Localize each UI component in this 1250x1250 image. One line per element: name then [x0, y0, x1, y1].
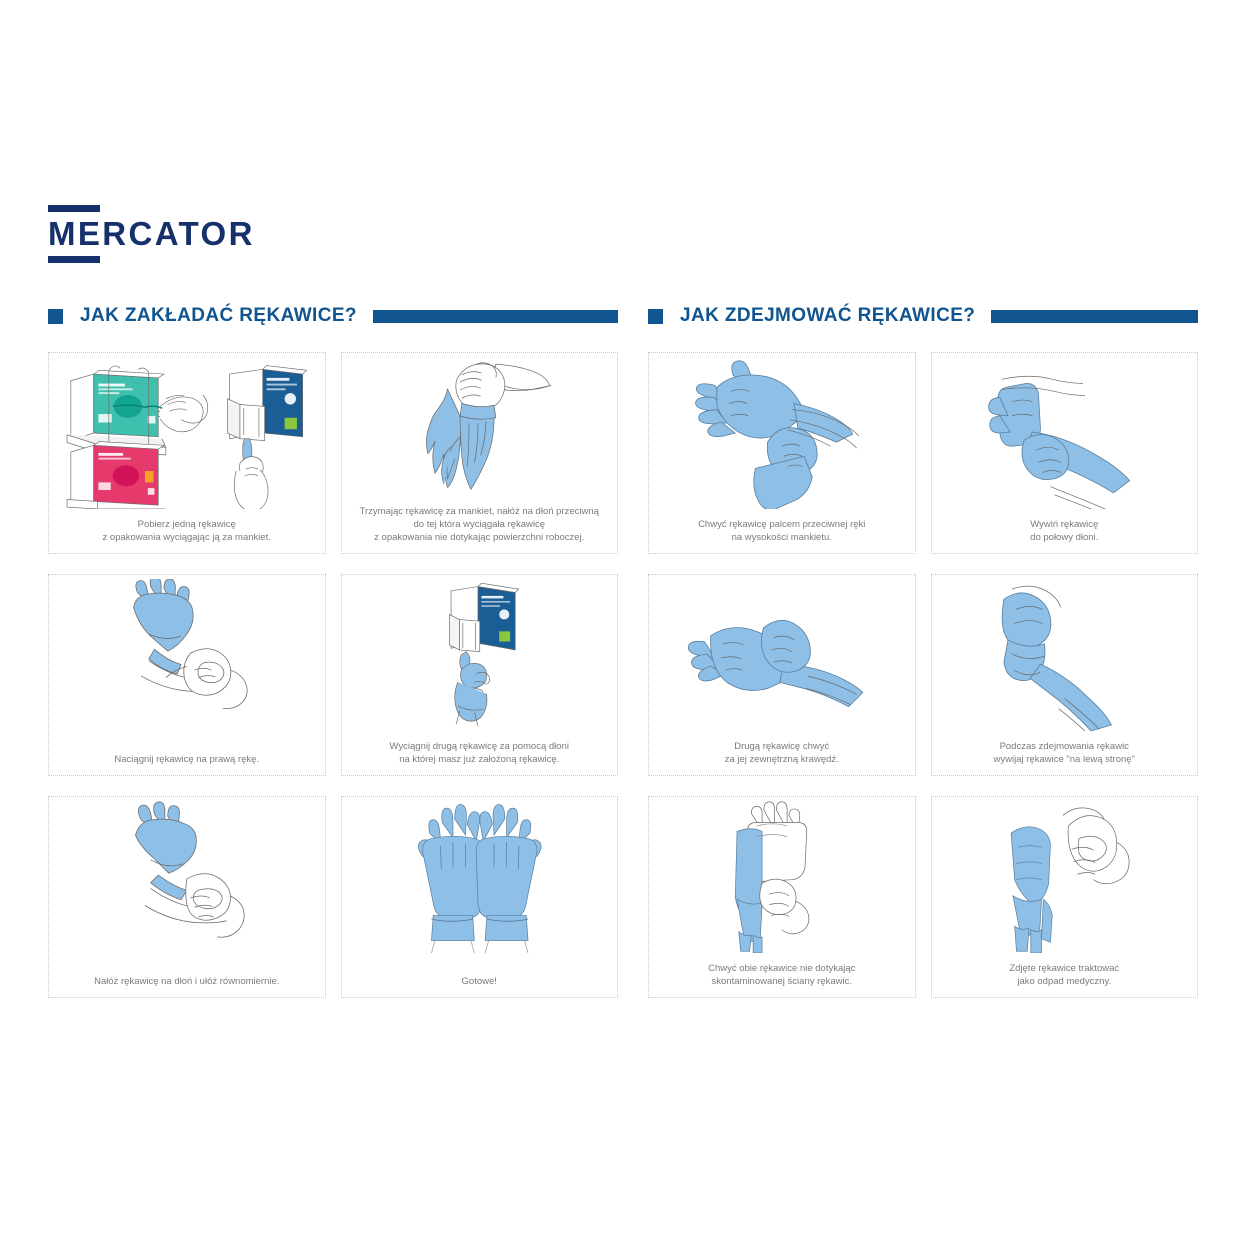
logo-bar-top: [48, 205, 100, 212]
illustration-peel-glove-inside-out: [932, 579, 1198, 731]
step-panel: Naciągnij rękawicę na prawą rękę.: [48, 574, 326, 776]
illustration-two-gloved-hands: [342, 801, 618, 953]
section-header-taking-off: JAK ZDEJMOWAĆ RĘKAWICE?: [648, 305, 1198, 327]
illustration-boxes-dispenser: [49, 357, 325, 509]
square-bullet-icon: [48, 309, 63, 324]
step-caption: Naciągnij rękawicę na prawą rękę.: [57, 753, 316, 775]
illustration-adjusting-glove: [49, 801, 325, 953]
step-caption: Chwyć obie rękawice nie dotykając skonta…: [657, 962, 907, 997]
step-panel: Chwyć obie rękawice nie dotykając skonta…: [648, 796, 916, 998]
step-panel: Podczas zdejmowania rękawic wywijaj ręka…: [931, 574, 1199, 776]
logo-bar-bottom: [48, 256, 100, 263]
step-caption: Drugą rękawicę chwyć za jej zewnętrzną k…: [657, 740, 907, 775]
panel-grid-taking-off: Chwyć rękawicę palcem przeciwnej ręki na…: [648, 352, 1198, 998]
illustration-hold-both-gloves: [649, 801, 915, 953]
step-panel: Chwyć rękawicę palcem przeciwnej ręki na…: [648, 352, 916, 554]
section-header-putting-on: JAK ZAKŁADAĆ RĘKAWICE?: [48, 305, 618, 327]
section-rule: [991, 310, 1198, 323]
illustration-grab-cuff-with-fingers: [649, 357, 915, 509]
section-title: JAK ZAKŁADAĆ RĘKAWICE?: [80, 305, 357, 327]
step-caption: Podczas zdejmowania rękawic wywijaj ręka…: [939, 740, 1189, 775]
step-panel: Gotowe!: [341, 796, 619, 998]
illustration-grab-second-glove-outer-edge: [649, 579, 915, 731]
step-caption: Chwyć rękawicę palcem przeciwnej ręki na…: [657, 518, 907, 553]
panel-grid-putting-on: Pobierz jedną rękawicę z opakowania wyci…: [48, 352, 618, 998]
step-caption: Pobierz jedną rękawicę z opakowania wyci…: [57, 518, 316, 553]
step-caption: Wywiń rękawicę do połowy dłoni.: [939, 518, 1189, 553]
step-caption: Trzymając rękawicę za mankiet, nałóż na …: [350, 505, 609, 553]
infographic-page: MERCATOR JAK ZAKŁADAĆ RĘKAWICE? JAK ZDEJ…: [0, 0, 1250, 1250]
step-caption: Nałóż rękawicę na dłoń i ułóż równomiern…: [57, 975, 316, 997]
square-bullet-icon: [648, 309, 663, 324]
step-caption: Gotowe!: [350, 975, 609, 997]
step-panel: Pobierz jedną rękawicę z opakowania wyci…: [48, 352, 326, 554]
step-panel: Nałóż rękawicę na dłoń i ułóż równomiern…: [48, 796, 326, 998]
section-rule: [373, 310, 618, 323]
illustration-pulling-glove-right-hand: [49, 579, 325, 731]
step-caption: Zdjęte rękawice traktować jako odpad med…: [939, 962, 1189, 997]
illustration-dispose-gloves: [932, 801, 1198, 953]
step-panel: Wyciągnij drugą rękawicę za pomocą dłoni…: [341, 574, 619, 776]
illustration-hand-holding-glove-cuff: [342, 357, 618, 509]
logo-wordmark: MERCATOR: [48, 217, 255, 251]
step-panel: Wywiń rękawicę do połowy dłoni.: [931, 352, 1199, 554]
step-panel: Zdjęte rękawice traktować jako odpad med…: [931, 796, 1199, 998]
illustration-turn-glove-inside-out-half: [932, 357, 1198, 509]
section-title: JAK ZDEJMOWAĆ RĘKAWICE?: [680, 305, 975, 327]
step-panel: Trzymając rękawicę za mankiet, nałóż na …: [341, 352, 619, 554]
brand-logo: MERCATOR: [48, 205, 255, 263]
illustration-gloved-hand-pulling-from-box: [342, 579, 618, 731]
step-caption: Wyciągnij drugą rękawicę za pomocą dłoni…: [350, 740, 609, 775]
step-panel: Drugą rękawicę chwyć za jej zewnętrzną k…: [648, 574, 916, 776]
